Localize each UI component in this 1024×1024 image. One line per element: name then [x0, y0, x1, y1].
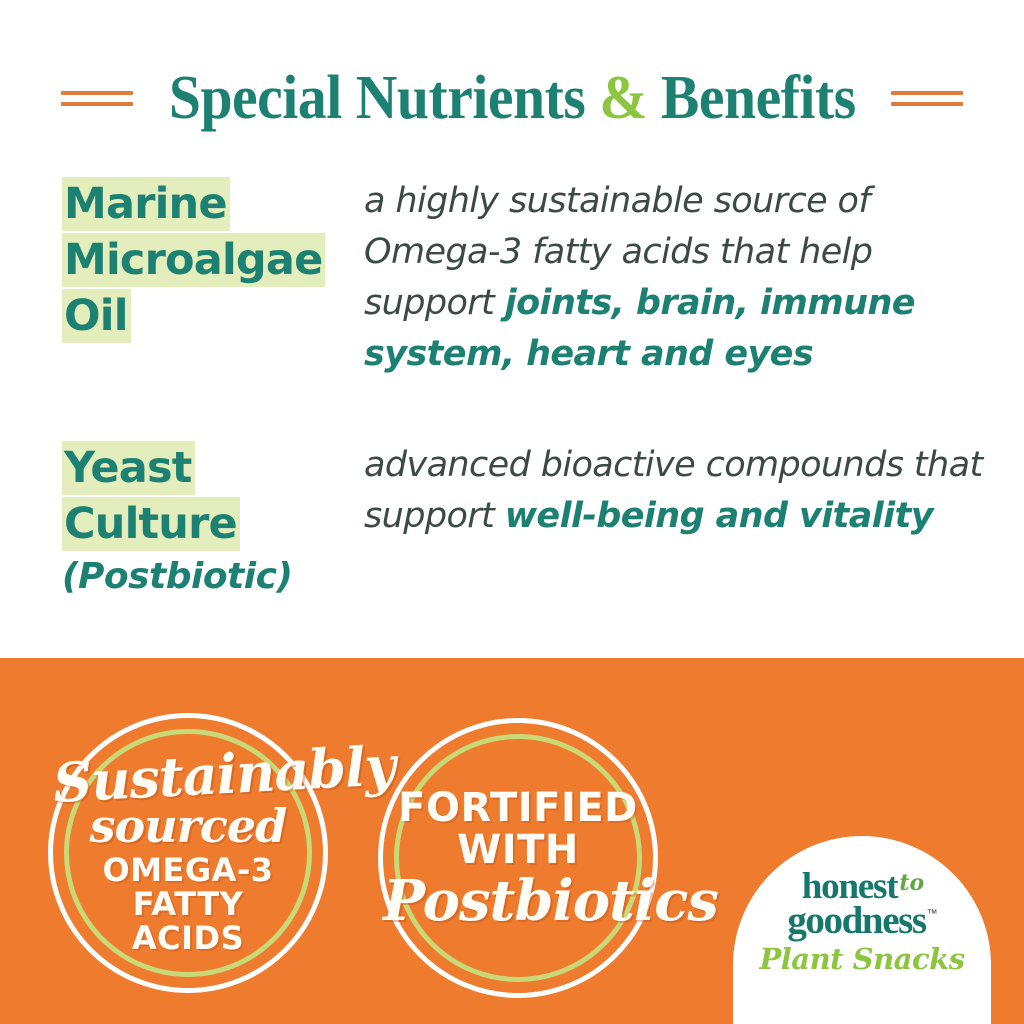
nutrient-name-line3: Oil: [62, 289, 131, 343]
nutrient-name-line1: Yeast: [62, 441, 195, 495]
badge-line-1: Sustainably: [52, 744, 324, 808]
nutrient-name-line1: Marine: [62, 177, 230, 231]
nutrient-name-subtitle: (Postbiotic): [62, 552, 350, 602]
nutrient-name-marine-microalgae-oil: Marine Microalgae Oil: [62, 176, 350, 344]
nutrients-list: Marine Microalgae Oil a highly sustainab…: [0, 176, 1024, 602]
page-title: Special Nutrients & Benefits: [169, 67, 856, 129]
ampersand-icon: &: [599, 64, 647, 132]
badge-fortified-with-postbiotics: FORTIFIED WITH Postbiotics: [378, 718, 658, 998]
badge-content: FORTIFIED WITH Postbiotics: [383, 787, 653, 929]
badge-line-2: WITH: [383, 829, 653, 871]
infographic-page: Special Nutrients & Benefits Marine Micr…: [0, 0, 1024, 1024]
badge-line-3: OMEGA-3: [53, 853, 323, 887]
page-title-part1: Special Nutrients: [169, 64, 599, 132]
badge-line-1: FORTIFIED: [383, 787, 653, 829]
badge-sustainably-sourced: Sustainably sourced OMEGA-3 FATTY ACIDS: [48, 713, 328, 993]
badge-content: Sustainably sourced OMEGA-3 FATTY ACIDS: [53, 751, 323, 955]
logo-tagline: Plant Snacks: [733, 942, 991, 976]
nutrient-description-emphasis: well-being and vitality: [505, 496, 933, 536]
nutrient-row-marine-microalgae-oil: Marine Microalgae Oil a highly sustainab…: [0, 176, 1024, 380]
logo-word-to: to: [899, 870, 924, 896]
trademark-icon: ™: [927, 908, 938, 920]
logo-goodness-row: goodness™: [787, 902, 936, 939]
badge-line-5: ACIDS: [53, 921, 323, 955]
nutrient-row-yeast-culture: Yeast Culture (Postbiotic) advanced bioa…: [0, 380, 1024, 602]
brand-logo: honestto goodness™ Plant Snacks: [733, 870, 991, 976]
page-title-part2: Benefits: [647, 64, 856, 132]
nutrient-name-line2: Microalgae: [62, 233, 325, 287]
nutrient-name-line2: Culture: [62, 497, 240, 551]
badge-line-4: FATTY: [53, 887, 323, 921]
logo-word-goodness: goodness: [787, 899, 925, 942]
header-rule-left-icon: [61, 91, 133, 106]
nutrient-description-marine-microalgae-oil: a highly sustainable source of Omega-3 f…: [350, 176, 1024, 380]
page-header: Special Nutrients & Benefits: [0, 58, 1024, 138]
header-rule-right-icon: [891, 91, 963, 106]
nutrient-name-yeast-culture: Yeast Culture (Postbiotic): [62, 440, 350, 602]
badge-line-3: Postbiotics: [383, 873, 653, 929]
nutrient-description-yeast-culture: advanced bioactive compounds that suppor…: [350, 440, 1024, 542]
